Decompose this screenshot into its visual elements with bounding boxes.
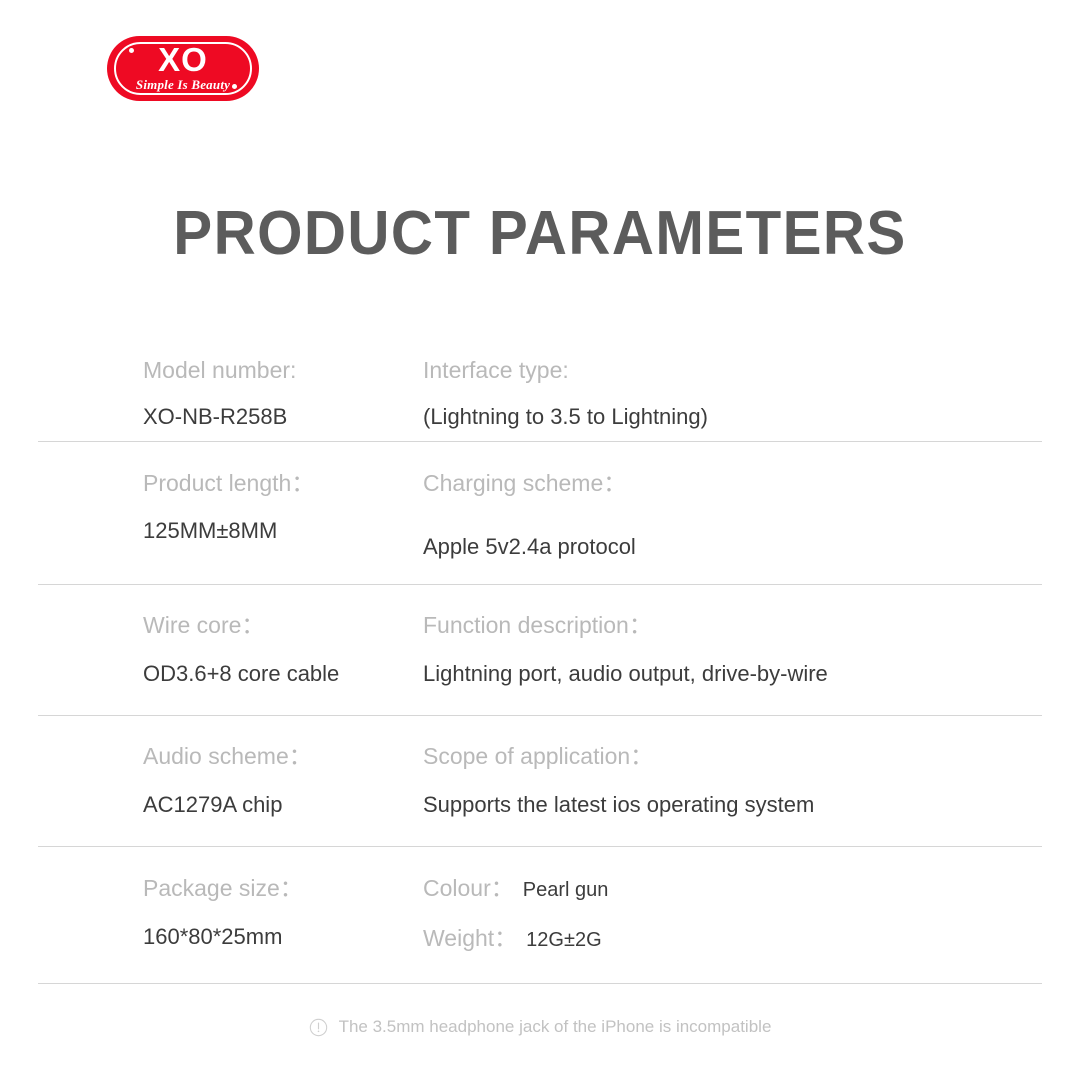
spec-value: XO-NB-R258B: [143, 385, 422, 431]
spec-label: Scope of application：: [423, 716, 1042, 771]
spec-label: Function description：: [423, 585, 1042, 640]
spec-value: 160*80*25mm: [143, 903, 422, 951]
spec-cell-left: Audio scheme： AC1279A chip: [38, 716, 422, 819]
page-title: PRODUCT PARAMETERS: [32, 198, 1047, 270]
table-row: Package size： 160*80*25mm Colour： Pearl …: [38, 847, 1042, 984]
spec-value: 12G±2G: [517, 927, 601, 953]
spec-cell-right: Interface type: (Lightning to 3.5 to Lig…: [422, 341, 1042, 431]
spec-cell-left: Product length： 125MM±8MM: [38, 442, 422, 545]
spec-label: Model number:: [143, 341, 422, 385]
table-row: Product length： 125MM±8MM Charging schem…: [38, 442, 1042, 585]
xo-brand-logo: XO Simple Is Beauty: [107, 36, 259, 101]
table-row: Audio scheme： AC1279A chip Scope of appl…: [38, 716, 1042, 847]
spec-value: Lightning port, audio output, drive-by-w…: [423, 640, 1042, 688]
spec-cell-right: Charging scheme： Apple 5v2.4a protocol: [422, 442, 1042, 561]
footer-note: The 3.5mm headphone jack of the iPhone i…: [0, 1016, 1080, 1038]
table-row: Model number: XO-NB-R258B Interface type…: [38, 341, 1042, 442]
spec-value: Pearl gun: [514, 877, 609, 903]
spec-label: Audio scheme：: [143, 716, 422, 771]
product-parameters-page: XO Simple Is Beauty PRODUCT PARAMETERS M…: [0, 0, 1080, 1080]
spec-value: OD3.6+8 core cable: [143, 640, 422, 688]
spec-cell-right: Scope of application： Supports the lates…: [422, 716, 1042, 819]
table-row: Wire core： OD3.6+8 core cable Function d…: [38, 585, 1042, 716]
spec-cell-left: Wire core： OD3.6+8 core cable: [38, 585, 422, 688]
spec-label: Charging scheme：: [423, 442, 1042, 498]
spec-label: Interface type:: [423, 341, 1042, 385]
spec-value: AC1279A chip: [143, 771, 422, 819]
spec-label: Weight：: [423, 923, 517, 953]
logo-tagline: Simple Is Beauty: [107, 78, 259, 92]
spec-pair-weight: Weight： 12G±2G: [423, 903, 1042, 953]
spec-cell-left: Package size： 160*80*25mm: [38, 847, 422, 951]
exclamation-circle-icon: [309, 1018, 328, 1037]
spec-pair-colour: Colour： Pearl gun: [423, 847, 1042, 903]
spec-table: Model number: XO-NB-R258B Interface type…: [38, 341, 1042, 984]
logo-wordmark: XO: [107, 43, 259, 77]
spec-label: Wire core：: [143, 585, 422, 640]
spec-label: Package size：: [143, 847, 422, 903]
spec-cell-left: Model number: XO-NB-R258B: [38, 341, 422, 431]
spec-value: Apple 5v2.4a protocol: [423, 498, 1042, 561]
spec-label: Product length：: [143, 442, 422, 498]
spec-label: Colour：: [423, 873, 514, 903]
spec-cell-right: Colour： Pearl gun Weight： 12G±2G: [422, 847, 1042, 953]
spec-value: Supports the latest ios operating system: [423, 771, 1042, 819]
footer-note-text: The 3.5mm headphone jack of the iPhone i…: [339, 1016, 772, 1038]
spec-value: (Lightning to 3.5 to Lightning): [423, 385, 1042, 431]
spec-value: 125MM±8MM: [143, 498, 422, 545]
spec-cell-right: Function description： Lightning port, au…: [422, 585, 1042, 688]
